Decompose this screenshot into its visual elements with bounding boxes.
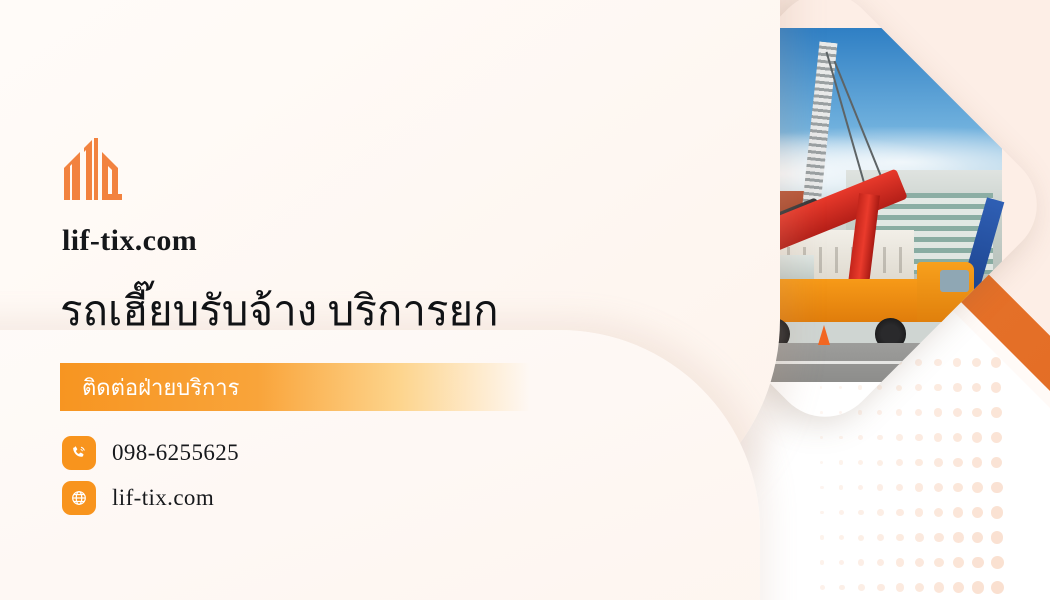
dot: [991, 432, 1002, 443]
promo-banner: lif-tix.com รถเฮี๊ยบรับจ้าง บริการยก ติด…: [0, 0, 1050, 600]
dot-row: [820, 425, 1050, 450]
dot: [934, 558, 944, 568]
dot: [820, 436, 823, 439]
dot: [991, 556, 1004, 569]
dot: [934, 384, 942, 392]
dot: [991, 407, 1002, 418]
dot: [896, 583, 904, 591]
building-skyline-icon: [64, 138, 130, 200]
dot: [858, 510, 864, 516]
cta-label: ติดต่อฝ่ายบริการ: [82, 370, 239, 405]
dot: [877, 435, 883, 441]
dot: [877, 559, 884, 566]
dot: [877, 484, 883, 490]
dot: [991, 382, 1002, 393]
page-title: lif-tix.com: [62, 224, 197, 258]
dot: [839, 460, 843, 464]
dot: [896, 434, 903, 441]
dot: [915, 583, 924, 592]
phone-icon: [62, 436, 96, 470]
phone-number: 098-6255625: [112, 440, 239, 466]
dot: [896, 385, 902, 391]
dot-row: [820, 525, 1050, 550]
dot-row: [820, 550, 1050, 575]
dot: [953, 408, 962, 417]
dot-row: [820, 500, 1050, 525]
dot: [972, 432, 982, 442]
dot: [858, 535, 864, 541]
dot: [972, 383, 982, 393]
dot: [972, 408, 982, 418]
dot: [953, 557, 964, 568]
dot-row: [820, 575, 1050, 600]
dot: [953, 458, 963, 468]
dot: [934, 408, 942, 416]
dot: [934, 582, 944, 592]
dot: [953, 507, 963, 517]
dot: [839, 485, 843, 489]
dot: [877, 410, 882, 415]
dot: [877, 460, 883, 466]
dot: [896, 409, 902, 415]
dot: [953, 483, 963, 493]
dot: [972, 482, 983, 493]
dot: [953, 358, 961, 366]
dot: [858, 410, 862, 414]
dot: [953, 433, 962, 442]
dot: [915, 384, 922, 391]
dot: [972, 358, 981, 367]
dot: [991, 506, 1003, 518]
dot: [991, 457, 1003, 469]
dot: [934, 483, 943, 492]
dot: [820, 585, 825, 590]
dot: [934, 458, 943, 467]
dot: [839, 510, 844, 515]
contact-website-row[interactable]: lif-tix.com: [62, 481, 214, 515]
dot: [820, 535, 824, 539]
dot: [972, 532, 984, 544]
dot: [858, 460, 863, 465]
dot: [934, 359, 942, 367]
dot: [839, 585, 845, 591]
dot: [915, 558, 924, 567]
dot: [915, 359, 922, 366]
dot: [896, 534, 904, 542]
dot: [953, 383, 962, 392]
dot: [915, 483, 923, 491]
dot: [934, 533, 944, 543]
dot: [877, 385, 882, 390]
dot: [915, 459, 923, 467]
dot: [858, 485, 863, 490]
dot: [953, 582, 964, 593]
dot: [915, 533, 924, 542]
dot: [972, 581, 984, 593]
dot: [896, 509, 904, 517]
website-url: lif-tix.com: [112, 485, 214, 511]
dot-row: [820, 475, 1050, 500]
dot: [991, 482, 1003, 494]
dot: [991, 531, 1003, 543]
dot-row: [820, 450, 1050, 475]
dot: [915, 409, 922, 416]
contact-phone-row[interactable]: 098-6255625: [62, 436, 239, 470]
dot: [972, 557, 984, 569]
dot: [839, 560, 844, 565]
cta-banner[interactable]: ติดต่อฝ่ายบริการ: [60, 363, 530, 411]
dot: [858, 435, 863, 440]
dot: [877, 534, 884, 541]
dot: [820, 560, 824, 564]
dot: [934, 433, 942, 441]
dot: [953, 532, 964, 543]
dot: [915, 434, 923, 442]
dot: [820, 486, 824, 490]
dot: [839, 535, 844, 540]
dot: [820, 461, 823, 464]
dot: [896, 459, 903, 466]
dot: [896, 558, 904, 566]
traffic-cone: [818, 325, 830, 345]
dot: [915, 508, 923, 516]
dot: [934, 508, 943, 517]
headline-text: รถเฮี๊ยบรับจ้าง บริการยก: [60, 278, 499, 344]
dot: [877, 509, 884, 516]
globe-icon: [62, 481, 96, 515]
dot: [896, 484, 903, 491]
dot: [820, 511, 824, 515]
dot: [991, 357, 1001, 367]
dot: [972, 457, 983, 468]
dot: [858, 559, 864, 565]
dot: [858, 584, 865, 591]
dot: [991, 581, 1004, 594]
dot: [877, 584, 885, 592]
dot: [972, 507, 983, 518]
dot: [839, 436, 843, 440]
